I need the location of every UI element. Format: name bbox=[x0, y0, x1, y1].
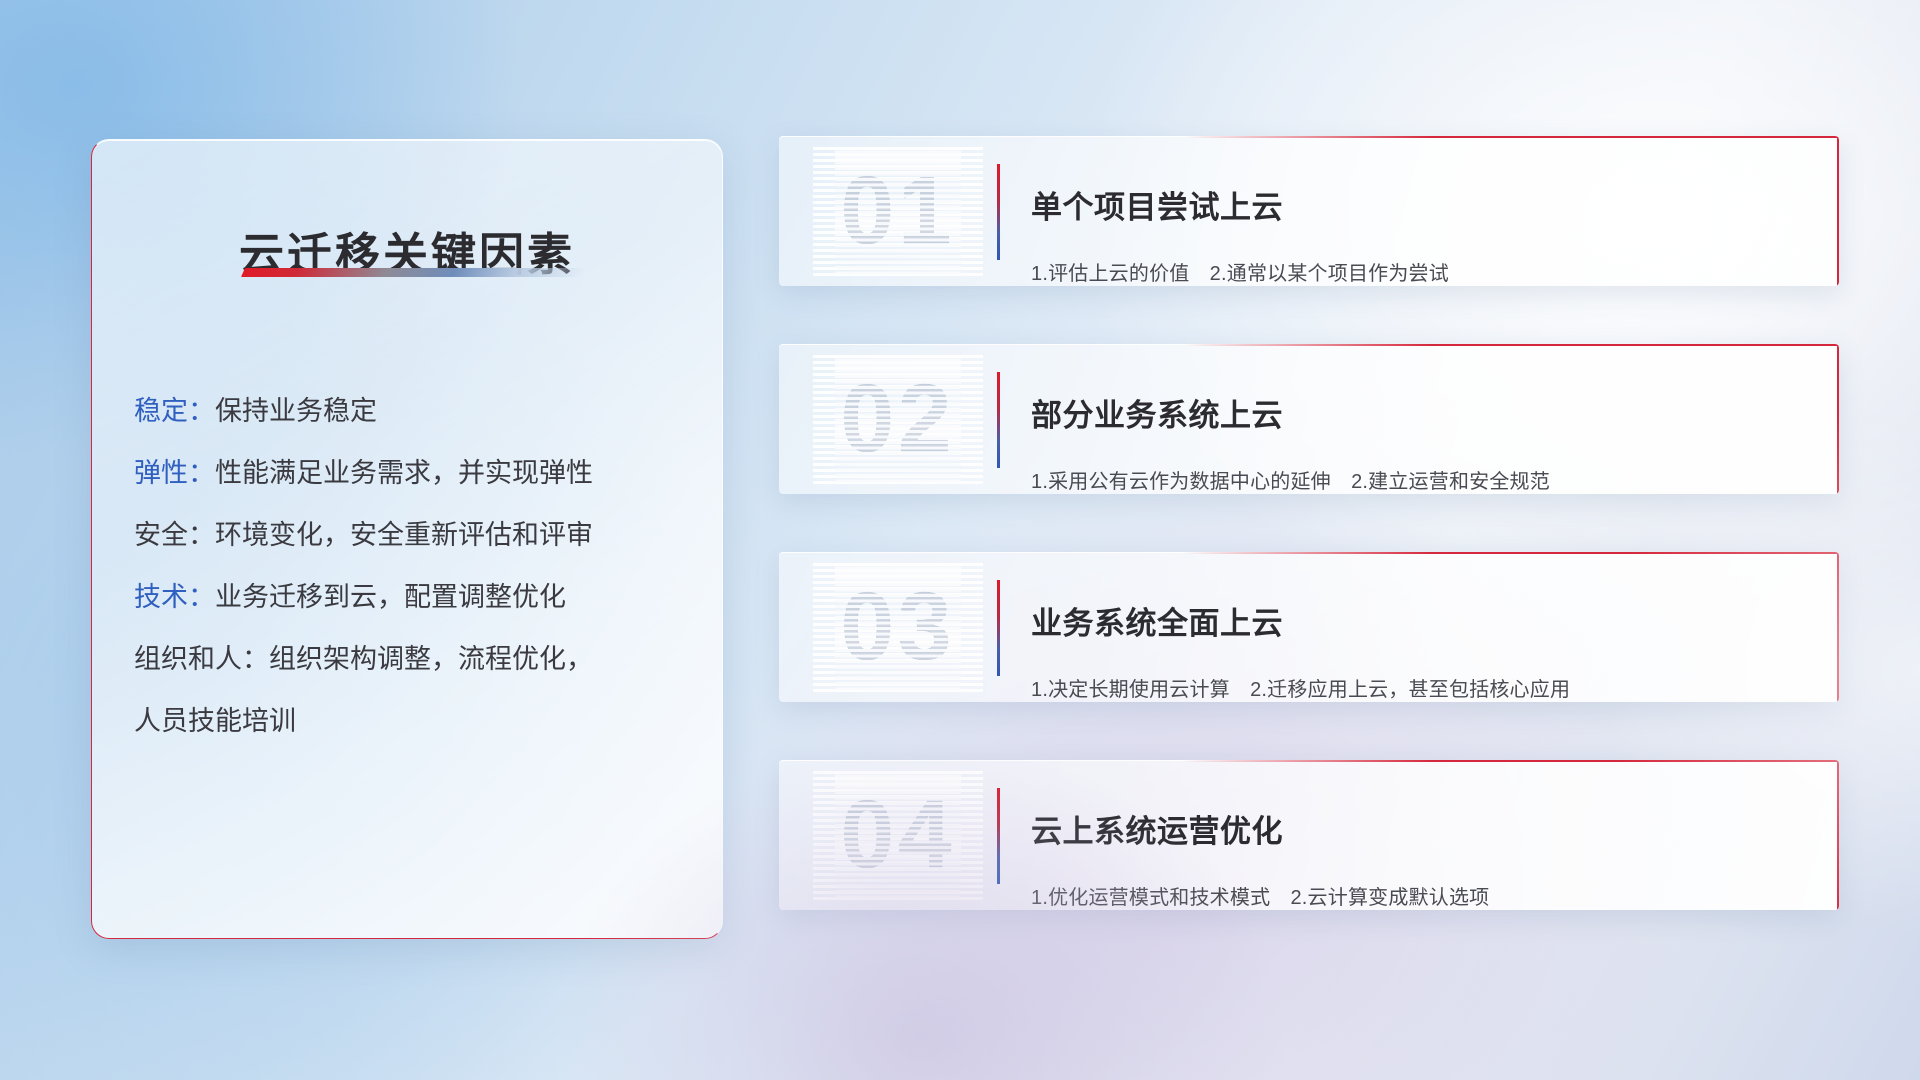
card-top-accent bbox=[1182, 344, 1839, 346]
card-body: 部分业务系统上云 1.采用公有云作为数据中心的延伸 2.建立运营和安全规范 bbox=[1031, 366, 1813, 494]
factor-item-organization: 组织和人：组织架构调整，流程优化， bbox=[134, 628, 694, 690]
factor-text: 人员技能培训 bbox=[134, 706, 296, 736]
card-title: 云上系统运营优化 bbox=[1031, 808, 1813, 856]
card-divider-bar bbox=[997, 788, 1000, 884]
card-divider-bar bbox=[997, 372, 1000, 468]
factor-label: 稳定： bbox=[134, 396, 215, 426]
stage-card-04[interactable]: 04 云上系统运营优化 1.优化运营模式和技术模式 2.云计算变成默认选项 bbox=[779, 760, 1839, 910]
stage-number-text: 01 bbox=[841, 156, 956, 266]
stage-card-list: 01 单个项目尝试上云 1.评估上云的价值 2.通常以某个项目作为尝试 02 部… bbox=[779, 136, 1839, 968]
factor-text: 业务迁移到云，配置调整优化 bbox=[215, 582, 566, 612]
factor-list: 稳定：保持业务稳定 弹性：性能满足业务需求，并实现弹性 安全：环境变化，安全重新… bbox=[134, 380, 694, 752]
card-body: 单个项目尝试上云 1.评估上云的价值 2.通常以某个项目作为尝试 bbox=[1031, 158, 1813, 286]
factor-item-stability: 稳定：保持业务稳定 bbox=[134, 380, 694, 442]
factor-item-technology: 技术：业务迁移到云，配置调整优化 bbox=[134, 566, 694, 628]
factor-item-organization-continued: 人员技能培训 bbox=[134, 690, 694, 752]
card-description: 1.优化运营模式和技术模式 2.云计算变成默认选项 bbox=[1031, 881, 1813, 910]
card-right-accent bbox=[1837, 344, 1839, 494]
card-description: 1.采用公有云作为数据中心的延伸 2.建立运营和安全规范 bbox=[1031, 465, 1813, 494]
card-right-accent bbox=[1837, 136, 1839, 286]
factor-item-elasticity: 弹性：性能满足业务需求，并实现弹性 bbox=[134, 442, 694, 504]
factor-text: 保持业务稳定 bbox=[215, 396, 377, 426]
card-top-accent bbox=[1182, 552, 1839, 554]
card-right-accent bbox=[1837, 552, 1839, 702]
stage-number-03: 03 bbox=[813, 560, 983, 694]
stage-card-01[interactable]: 01 单个项目尝试上云 1.评估上云的价值 2.通常以某个项目作为尝试 bbox=[779, 136, 1839, 286]
card-divider-bar bbox=[997, 164, 1000, 260]
slide-canvas: 云迁移关键因素 稳定：保持业务稳定 弹性：性能满足业务需求，并实现弹性 安全：环… bbox=[0, 0, 1920, 1080]
factor-text: 性能满足业务需求，并实现弹性 bbox=[215, 458, 593, 488]
stage-number-text: 04 bbox=[841, 780, 956, 890]
factor-text: 组织架构调整，流程优化， bbox=[269, 644, 593, 674]
title-underline-rule bbox=[241, 268, 585, 277]
card-title: 部分业务系统上云 bbox=[1031, 392, 1813, 440]
card-body: 云上系统运营优化 1.优化运营模式和技术模式 2.云计算变成默认选项 bbox=[1031, 782, 1813, 910]
card-title: 单个项目尝试上云 bbox=[1031, 184, 1813, 232]
card-body: 业务系统全面上云 1.决定长期使用云计算 2.迁移应用上云，甚至包括核心应用 bbox=[1031, 574, 1813, 702]
card-divider-bar bbox=[997, 580, 1000, 676]
factor-item-security: 安全：环境变化，安全重新评估和评审 bbox=[134, 504, 694, 566]
factor-label: 安全： bbox=[134, 520, 215, 550]
stage-number-text: 03 bbox=[841, 572, 956, 682]
factor-text: 环境变化，安全重新评估和评审 bbox=[215, 520, 593, 550]
card-description: 1.评估上云的价值 2.通常以某个项目作为尝试 bbox=[1031, 257, 1813, 286]
card-top-accent bbox=[1182, 760, 1839, 762]
card-top-accent bbox=[1182, 136, 1839, 138]
stage-card-02[interactable]: 02 部分业务系统上云 1.采用公有云作为数据中心的延伸 2.建立运营和安全规范 bbox=[779, 344, 1839, 494]
factor-label: 技术： bbox=[134, 582, 215, 612]
stage-number-02: 02 bbox=[813, 352, 983, 486]
key-factors-panel: 云迁移关键因素 稳定：保持业务稳定 弹性：性能满足业务需求，并实现弹性 安全：环… bbox=[91, 139, 723, 939]
stage-number-04: 04 bbox=[813, 768, 983, 902]
card-description: 1.决定长期使用云计算 2.迁移应用上云，甚至包括核心应用 bbox=[1031, 673, 1813, 702]
stage-number-01: 01 bbox=[813, 144, 983, 278]
factor-label: 弹性： bbox=[134, 458, 215, 488]
card-right-accent bbox=[1837, 760, 1839, 910]
card-title: 业务系统全面上云 bbox=[1031, 600, 1813, 648]
stage-card-03[interactable]: 03 业务系统全面上云 1.决定长期使用云计算 2.迁移应用上云，甚至包括核心应… bbox=[779, 552, 1839, 702]
factor-label: 组织和人： bbox=[134, 644, 269, 674]
stage-number-text: 02 bbox=[841, 364, 956, 474]
